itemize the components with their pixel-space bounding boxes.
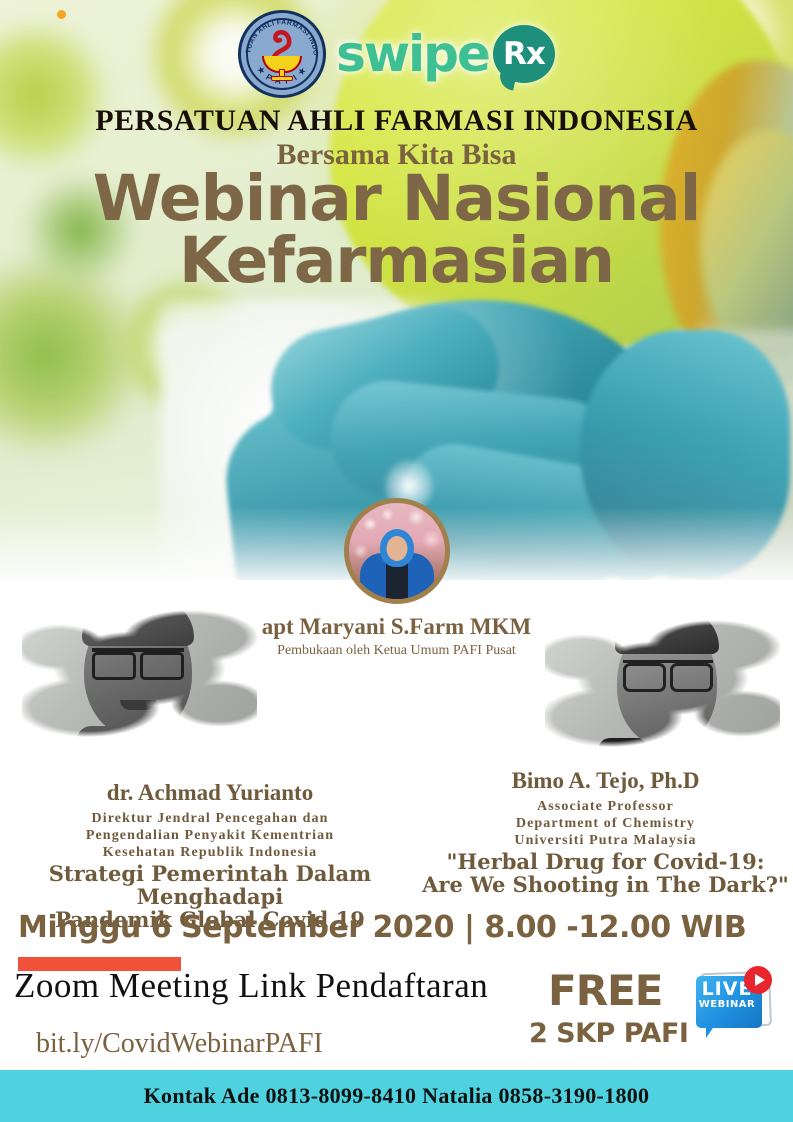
credits-label: 2 SKP PAFI (529, 1018, 688, 1049)
live-webinar-badge: LIVE WEBINAR (694, 968, 776, 1040)
rx-label: Rx (503, 36, 545, 72)
price-label: FREE (548, 966, 662, 1015)
swipe-wordmark: swipe (336, 25, 489, 83)
pafi-logo-icon: PERSATUAN AHLI FARMASI INDONESIA ★ P A F… (238, 10, 326, 98)
speaker-topic-line: Strategi Pemerintah Dalam Menghadapi (0, 862, 420, 908)
event-platform-label: Zoom Meeting Link Pendaftaran (14, 966, 488, 1006)
speaker-affiliation: Direktur Jendral Pencegahan dan Pengenda… (0, 810, 420, 861)
webinar-poster: PERSATUAN AHLI FARMASI INDONESIA ★ P A F… (0, 0, 793, 1122)
header-logos: PERSATUAN AHLI FARMASI INDONESIA ★ P A F… (0, 8, 793, 100)
speaker-topic-line: Are We Shooting in The Dark?" (418, 873, 793, 896)
event-date-time: Minggu 6 September 2020 | 8.00 -12.00 WI… (18, 910, 778, 945)
speaker-affiliation-line: Department of Chemistry (418, 815, 793, 832)
avatar-maryani (344, 498, 450, 604)
speaker-affiliation-line: Associate Professor (418, 798, 793, 815)
photo-achmad-yurianto (22, 588, 257, 763)
play-button-icon (744, 966, 772, 994)
eyeglasses-icon (623, 660, 713, 684)
contact-text: Kontak Ade 0813-8099-8410 Natalia 0858-3… (144, 1083, 650, 1109)
page-title: Webinar Nasional Kefarmasian (0, 168, 793, 291)
swipe-dot-icon (57, 10, 66, 19)
badge-webinar-label: WEBINAR (694, 999, 760, 1010)
speaker-affiliation-line: Kesehatan Republik Indonesia (0, 844, 420, 861)
speaker-name: Bimo A. Tejo, Ph.D (418, 768, 793, 794)
rx-speech-bubble-icon: Rx (493, 25, 555, 83)
contact-footer: Kontak Ade 0813-8099-8410 Natalia 0858-3… (0, 1070, 793, 1122)
speaker-topic-line: "Herbal Drug for Covid-19: (418, 850, 793, 873)
registration-link[interactable]: bit.ly/CovidWebinarPAFI (36, 1028, 323, 1060)
speaker-name: dr. Achmad Yurianto (0, 780, 420, 806)
swipe-rx-logo: swipe Rx (336, 25, 555, 83)
photo-bimo-tejo (545, 598, 780, 773)
eyeglasses-icon (92, 648, 184, 672)
speaker-affiliation-line: Direktur Jendral Pencegahan dan (0, 810, 420, 827)
speaker-affiliation-line: Pengendalian Penyakit Kementrian (0, 827, 420, 844)
headline-line-2: Kefarmasian (0, 230, 793, 292)
organization-name: PERSATUAN AHLI FARMASI INDONESIA (0, 104, 793, 138)
speaker-block-right: Bimo A. Tejo, Ph.D Associate Professor D… (418, 768, 793, 896)
speaker-topic: "Herbal Drug for Covid-19: Are We Shooti… (418, 850, 793, 896)
speaker-block-left: dr. Achmad Yurianto Direktur Jendral Pen… (0, 780, 420, 932)
speaker-affiliation: Associate Professor Department of Chemis… (418, 798, 793, 849)
speaker-affiliation-line: Universiti Putra Malaysia (418, 832, 793, 849)
